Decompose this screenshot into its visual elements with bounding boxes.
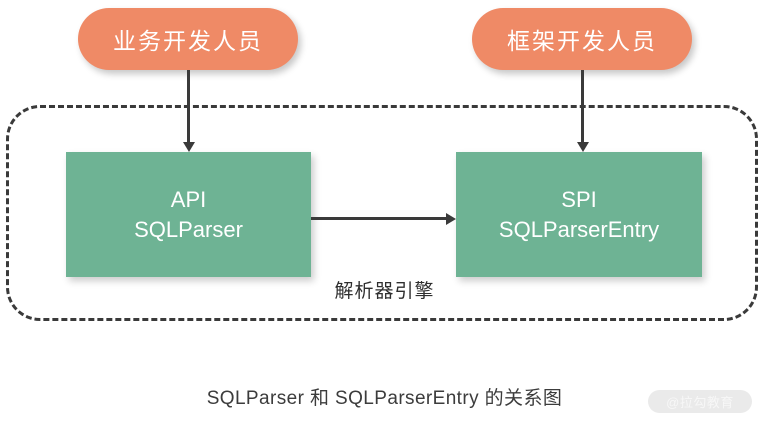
component-api-sqlparser: API SQLParser <box>66 152 311 277</box>
arrow-head-down-icon <box>577 142 589 152</box>
parser-engine-label: 解析器引擎 <box>0 282 769 301</box>
component-spi-sqlparserentry: SPI SQLParserEntry <box>456 152 702 277</box>
component-api-name-label: SQLParser <box>134 215 243 245</box>
watermark-label: @拉勾教育 <box>666 392 734 411</box>
component-spi-kind-label: SPI <box>561 185 596 215</box>
role-business-developer: 业务开发人员 <box>78 8 298 70</box>
arrow-head-down-icon <box>183 142 195 152</box>
role-framework-developer: 框架开发人员 <box>472 8 692 70</box>
component-spi-name-label: SQLParserEntry <box>499 215 659 245</box>
role-framework-developer-label: 框架开发人员 <box>507 22 657 56</box>
diagram-canvas: 解析器引擎 业务开发人员 框架开发人员 API SQLParser SPI SQ… <box>0 0 769 424</box>
component-api-kind-label: API <box>171 185 206 215</box>
arrow-head-right-icon <box>446 213 456 225</box>
arrow-shaft <box>311 217 446 220</box>
arrow-shaft <box>581 70 584 142</box>
arrow-shaft <box>187 70 190 142</box>
role-business-developer-label: 业务开发人员 <box>113 22 263 56</box>
watermark: @拉勾教育 <box>648 390 752 413</box>
